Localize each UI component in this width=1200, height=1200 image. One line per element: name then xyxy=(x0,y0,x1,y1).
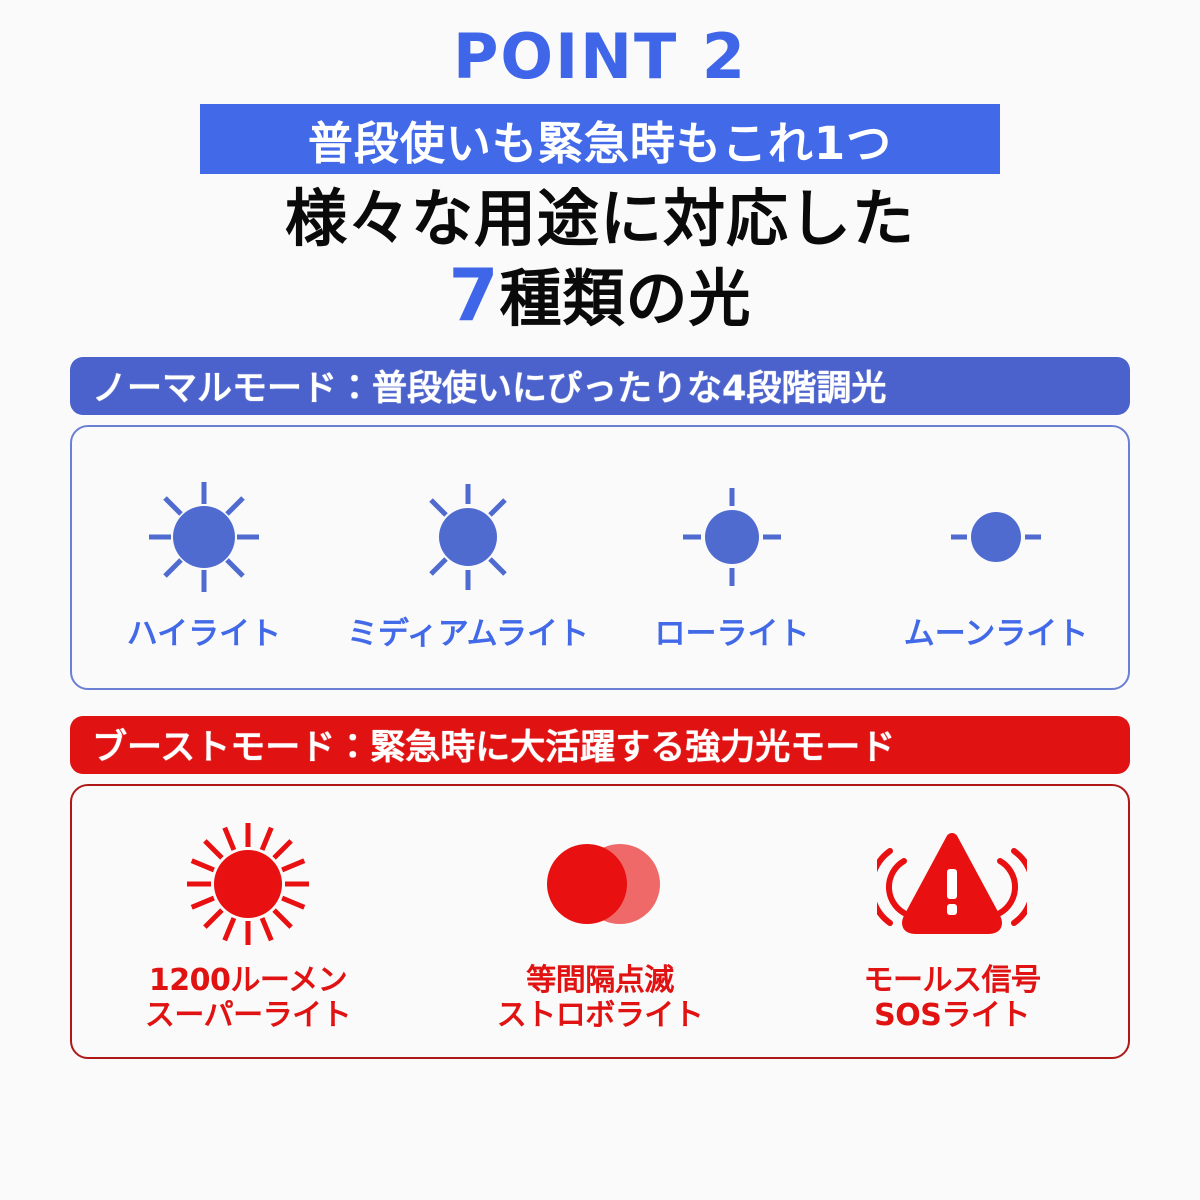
boost-mode-item-sos[interactable]: モールス信号 SOSライト xyxy=(776,809,1128,1034)
boost-mode-band: ブーストモード：緊急時に大活躍する強力光モード xyxy=(70,716,1130,774)
label-line-1: ハイライト xyxy=(127,616,281,652)
normal-mode-label-moon: ムーンライト xyxy=(904,616,1088,653)
lead-line-2: 7種類の光 xyxy=(0,257,1200,335)
normal-mode-band-text: ノーマルモード：普段使いにぴったりな4段階調光 xyxy=(92,360,886,411)
headline-band-text: 普段使いも緊急時もこれ1つ xyxy=(308,107,892,172)
normal-mode-item-moon[interactable]: ムーンライト xyxy=(864,462,1128,653)
lead-line-1: 様々な用途に対応した xyxy=(0,186,1200,253)
normal-mode-label-medium: ミディアムライト xyxy=(347,616,589,653)
label-line-1: モールス信号 xyxy=(864,963,1041,998)
boost-mode-card: 1200ルーメン スーパーライト 等間隔点滅 ストロボライト xyxy=(70,784,1130,1059)
lead-line-2-rest: 種類の光 xyxy=(500,262,752,335)
label-line-1: ムーンライト xyxy=(904,616,1088,652)
label-line-1: ローライト xyxy=(655,616,810,652)
label-line-2: スーパーライト xyxy=(145,998,351,1033)
sun-4-ray-icon xyxy=(657,462,807,612)
point-title: POINT 2 xyxy=(0,0,1200,88)
label-line-1: 等間隔点滅 xyxy=(526,963,674,998)
label-line-2: SOSライト xyxy=(864,998,1041,1033)
boost-mode-item-super[interactable]: 1200ルーメン スーパーライト xyxy=(72,809,424,1034)
sun-2-ray-icon xyxy=(921,462,1071,612)
normal-mode-item-medium[interactable]: ミディアムライト xyxy=(336,462,600,653)
strobe-circles-icon xyxy=(525,809,675,959)
normal-mode-label-highlight: ハイライト xyxy=(127,616,281,653)
sun-8-ray-icon xyxy=(129,462,279,612)
normal-mode-icon-row: ハイライト xyxy=(72,427,1128,688)
label-line-1: ミディアムライト xyxy=(347,616,589,652)
normal-mode-band: ノーマルモード：普段使いにぴったりな4段階調光 xyxy=(70,357,1130,415)
boost-mode-band-text: ブーストモード：緊急時に大活躍する強力光モード xyxy=(92,719,895,770)
infographic-page: POINT 2 普段使いも緊急時もこれ1つ 様々な用途に対応した 7種類の光 ノ… xyxy=(0,0,1200,1200)
boost-mode-icon-row: 1200ルーメン スーパーライト 等間隔点滅 ストロボライト xyxy=(72,786,1128,1057)
label-line-1: 1200ルーメン xyxy=(149,963,347,998)
sun-burst-icon xyxy=(173,809,323,959)
sos-warning-icon xyxy=(877,809,1027,959)
boost-mode-label-sos: モールス信号 SOSライト xyxy=(864,963,1041,1034)
label-line-2: ストロボライト xyxy=(497,998,704,1033)
sun-6-ray-icon xyxy=(393,462,543,612)
boost-mode-label-strobe: 等間隔点滅 ストロボライト xyxy=(497,963,704,1034)
headline-band: 普段使いも緊急時もこれ1つ xyxy=(200,104,1000,174)
normal-mode-item-low[interactable]: ローライト xyxy=(600,462,864,653)
normal-mode-card: ハイライト xyxy=(70,425,1130,690)
lead-number: 7 xyxy=(448,253,499,337)
boost-mode-label-super: 1200ルーメン スーパーライト xyxy=(145,963,351,1034)
normal-mode-item-highlight[interactable]: ハイライト xyxy=(72,462,336,653)
normal-mode-label-low: ローライト xyxy=(655,616,810,653)
boost-mode-item-strobe[interactable]: 等間隔点滅 ストロボライト xyxy=(424,809,776,1034)
